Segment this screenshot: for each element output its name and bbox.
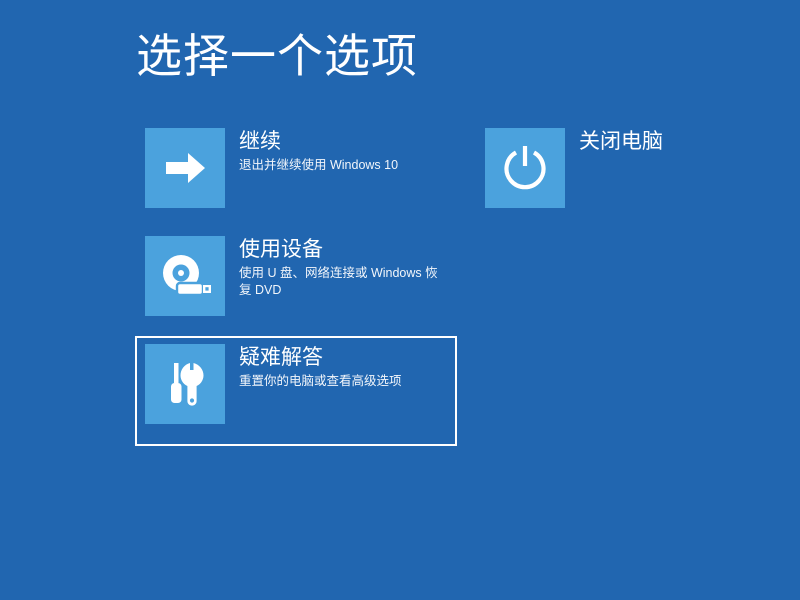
option-turn-off-pc-tile	[485, 128, 565, 208]
option-use-a-device-tile	[145, 236, 225, 316]
recovery-options-screen: 选择一个选项 继续 退出并继续使用 Windows 10	[0, 0, 800, 600]
screwdriver-wrench-icon	[163, 361, 207, 407]
option-turn-off-pc[interactable]: 关闭电脑	[475, 120, 775, 216]
option-troubleshoot-subtitle: 重置你的电脑或查看高级选项	[239, 373, 444, 390]
disc-usb-device-icon	[157, 252, 213, 300]
option-use-a-device-text: 使用设备 使用 U 盘、网络连接或 Windows 恢复 DVD	[225, 236, 447, 299]
option-use-a-device-subtitle: 使用 U 盘、网络连接或 Windows 恢复 DVD	[239, 265, 444, 299]
page-title: 选择一个选项	[136, 26, 418, 86]
option-troubleshoot-tile	[145, 344, 225, 424]
arrow-right-icon	[162, 151, 208, 185]
option-continue-subtitle: 退出并继续使用 Windows 10	[239, 157, 444, 174]
option-continue-tile	[145, 128, 225, 208]
options-column-right: 关闭电脑	[475, 120, 785, 228]
option-turn-off-pc-title: 关闭电脑	[579, 129, 765, 155]
option-turn-off-pc-text: 关闭电脑	[565, 128, 765, 157]
option-troubleshoot-text: 疑难解答 重置你的电脑或查看高级选项	[225, 344, 447, 390]
option-continue[interactable]: 继续 退出并继续使用 Windows 10	[135, 120, 457, 216]
option-continue-title: 继续	[239, 129, 447, 155]
option-use-a-device[interactable]: 使用设备 使用 U 盘、网络连接或 Windows 恢复 DVD	[135, 228, 457, 324]
power-icon	[500, 143, 550, 193]
option-use-a-device-title: 使用设备	[239, 237, 447, 263]
option-troubleshoot-title: 疑难解答	[239, 345, 447, 371]
option-continue-text: 继续 退出并继续使用 Windows 10	[225, 128, 447, 174]
option-troubleshoot[interactable]: 疑难解答 重置你的电脑或查看高级选项	[135, 336, 457, 446]
options-column-left: 继续 退出并继续使用 Windows 10	[135, 120, 465, 458]
